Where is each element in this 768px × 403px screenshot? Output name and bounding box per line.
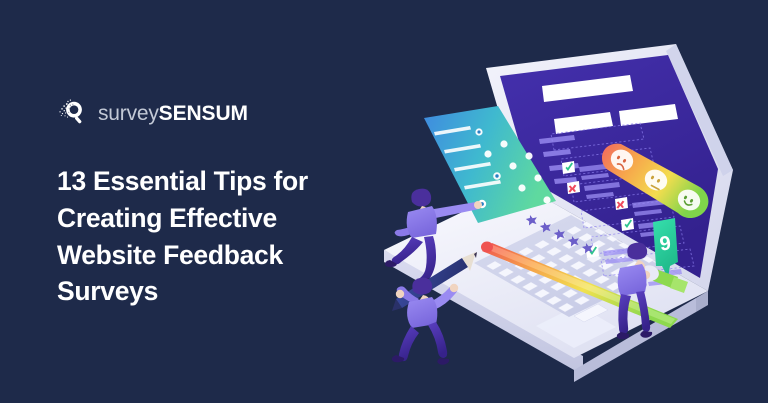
character-leg-front: [428, 322, 447, 358]
character-hand: [396, 290, 404, 298]
brand-logo[interactable]: surveySENSUM: [57, 92, 387, 132]
checkbox-check: [621, 218, 634, 231]
page-title: 13 Essential Tips for Creating Effective…: [57, 163, 387, 310]
character-shirt: [618, 264, 647, 296]
character-hair: [412, 278, 432, 295]
character-hair: [627, 243, 647, 260]
logo-wordmark: surveySENSUM: [98, 103, 248, 124]
character-hair: [411, 189, 431, 207]
logo-word-survey: survey: [98, 102, 159, 125]
checkbox-cross: [615, 197, 628, 210]
checkbox-cross: [567, 181, 580, 194]
character-leg-back: [399, 326, 419, 361]
banner: surveySENSUM 13 Essential Tips for Creat…: [0, 0, 768, 403]
checkbox-check: [562, 161, 575, 174]
gradient-bar-cap: [481, 242, 493, 253]
text-column: surveySENSUM 13 Essential Tips for Creat…: [57, 92, 387, 310]
illustration: 9: [378, 26, 768, 403]
character-hand: [450, 284, 458, 292]
character-shoe-front: [437, 358, 449, 365]
character-shirt: [407, 206, 437, 238]
logo-word-sensum: SENSUM: [159, 102, 248, 125]
magnifier-dots-icon: [57, 95, 91, 129]
